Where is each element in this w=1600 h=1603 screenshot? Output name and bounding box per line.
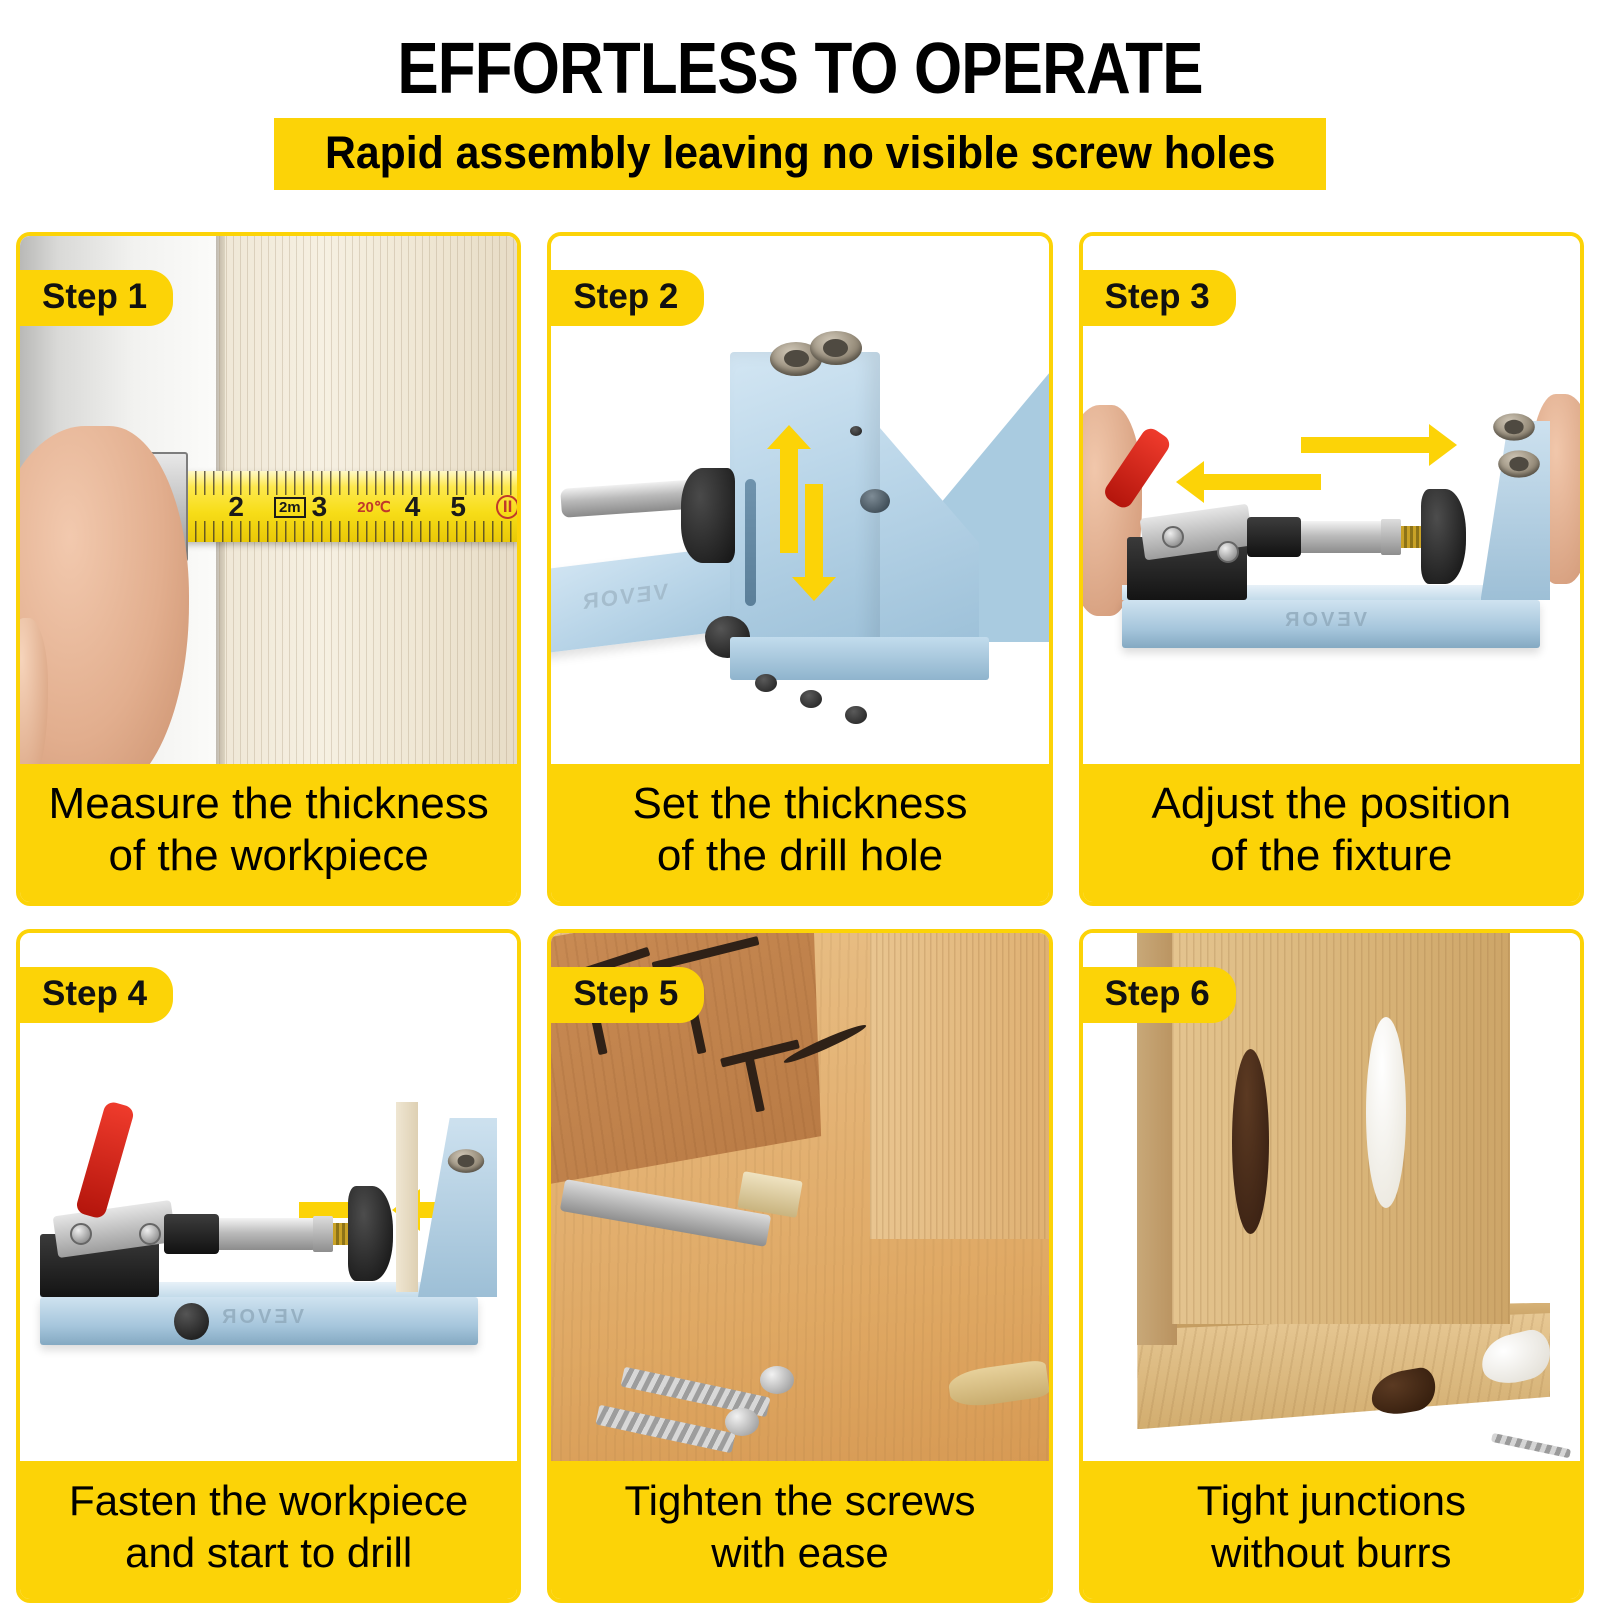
step-badge-label: Step 2	[573, 276, 678, 318]
subtitle-banner: Rapid assembly leaving no visible screw …	[274, 118, 1326, 190]
caption-line-1: Fasten the workpiece	[30, 1475, 507, 1527]
installed-plug-dark	[1232, 1049, 1269, 1234]
step-5-photo: Step 5	[551, 933, 1048, 1461]
clamp-pad	[681, 468, 736, 563]
rod-grip	[1247, 517, 1302, 557]
base-screw-3	[845, 706, 867, 724]
step-badge-label: Step 3	[1105, 276, 1210, 318]
step-badge-1: Step 1	[20, 270, 173, 326]
step-card-1: 2 2m 3 20℃ 4 5 II 6	[16, 232, 521, 906]
step-badge-label: Step 5	[573, 973, 678, 1015]
set-screw-hole	[850, 426, 862, 436]
step-card-5: Step 5 Tighten the screws with ease	[547, 929, 1052, 1603]
clamp-bolt-1	[70, 1223, 92, 1245]
clamp-bolt-1	[1162, 526, 1184, 548]
drill-bushing-right	[810, 331, 862, 365]
installed-plug-white	[1366, 1017, 1406, 1207]
step-card-2: VEVOR Step 2	[547, 232, 1052, 906]
tape-number-2: 2	[228, 491, 244, 523]
step-badge-3: Step 3	[1083, 270, 1236, 326]
rod-nut	[1381, 519, 1401, 556]
caption-line-2: of the drill hole	[561, 830, 1038, 882]
step-5-caption: Tighten the screws with ease	[551, 1461, 1048, 1599]
step-1-caption: Measure the thickness of the workpiece	[20, 764, 517, 902]
step-4-photo: VEVOR Step 4	[20, 933, 517, 1461]
arrow-left-icon	[1202, 474, 1321, 490]
clamp-cone-pad	[348, 1186, 393, 1281]
base-screw-2	[800, 690, 822, 708]
body-hole	[860, 489, 890, 513]
arrow-down-icon	[805, 484, 823, 579]
wood-upright	[870, 933, 1049, 1239]
caption-line-2: and start to drill	[30, 1527, 507, 1579]
step-1-photo: 2 2m 3 20℃ 4 5 II 6	[20, 236, 517, 764]
step-3-caption: Adjust the position of the fixture	[1083, 764, 1580, 902]
caption-line-1: Adjust the position	[1093, 778, 1570, 830]
workpiece	[396, 1102, 418, 1292]
step-6-photo: Step 6	[1083, 933, 1580, 1461]
brand-logo: VEVOR	[1282, 609, 1367, 632]
tape-class-mark: II	[496, 495, 517, 519]
hand	[20, 426, 189, 764]
adjust-slot	[745, 479, 756, 606]
caption-line-2: without burrs	[1093, 1527, 1570, 1579]
step-2-photo: VEVOR Step 2	[551, 236, 1048, 764]
step-3-photo: VEVOR Step 3	[1083, 236, 1580, 764]
rod-grip	[164, 1214, 219, 1254]
step-card-6: Step 6 Tight junctions without burrs	[1079, 929, 1584, 1603]
caption-line-1: Tighten the screws	[561, 1475, 1038, 1527]
caption-line-2: with ease	[561, 1527, 1038, 1579]
step-badge-label: Step 4	[42, 973, 147, 1015]
step-card-4: VEVOR Step 4 Fasten the	[16, 929, 521, 1603]
arrow-right-icon	[1301, 437, 1430, 453]
pocket-screw-head-1	[760, 1366, 794, 1394]
tape-number-4: 4	[405, 491, 421, 523]
step-badge-6: Step 6	[1083, 967, 1236, 1023]
clamp-bolt-2	[139, 1223, 161, 1245]
caption-line-1: Tight junctions	[1093, 1475, 1570, 1527]
tape-number-5: 5	[450, 491, 466, 523]
jig-fence	[1481, 421, 1551, 601]
jig-foot	[730, 637, 989, 679]
infographic-page: EFFORTLESS TO OPERATE Rapid assembly lea…	[0, 0, 1600, 1600]
step-2-caption: Set the thickness of the drill hole	[551, 764, 1048, 902]
steps-grid: 2 2m 3 20℃ 4 5 II 6	[16, 232, 1584, 1603]
tape-temperature-mark: 20℃	[357, 498, 391, 516]
clamp-cone-pad	[1421, 489, 1466, 584]
caption-line-2: of the fixture	[1093, 830, 1570, 882]
step-badge-label: Step 6	[1105, 973, 1210, 1015]
step-badge-label: Step 1	[42, 276, 147, 318]
rod-nut	[313, 1216, 333, 1253]
tape-length-mark: 2m	[274, 497, 306, 518]
step-badge-4: Step 4	[20, 967, 173, 1023]
step-card-3: VEVOR Step 3 Adjust the position	[1079, 232, 1584, 906]
step-6-caption: Tight junctions without burrs	[1083, 1461, 1580, 1599]
locking-knob	[174, 1303, 209, 1340]
subtitle-text: Rapid assembly leaving no visible screw …	[325, 127, 1275, 179]
thumb	[20, 618, 48, 764]
step-4-caption: Fasten the workpiece and start to drill	[20, 1461, 517, 1599]
arrow-up-icon	[780, 447, 798, 553]
tape-number-3: 3	[312, 491, 328, 523]
clamp-handle	[74, 1100, 135, 1220]
step-badge-2: Step 2	[551, 270, 704, 326]
subtitle-wrapper: Rapid assembly leaving no visible screw …	[0, 118, 1600, 190]
page-title: EFFORTLESS TO OPERATE	[112, 30, 1488, 108]
caption-line-2: of the workpiece	[30, 830, 507, 882]
brand-logo: VEVOR	[219, 1306, 304, 1329]
caption-line-1: Measure the thickness	[30, 778, 507, 830]
header: EFFORTLESS TO OPERATE Rapid assembly lea…	[0, 0, 1600, 190]
step-badge-5: Step 5	[551, 967, 704, 1023]
base-screw-1	[755, 674, 777, 692]
caption-line-1: Set the thickness	[561, 778, 1038, 830]
